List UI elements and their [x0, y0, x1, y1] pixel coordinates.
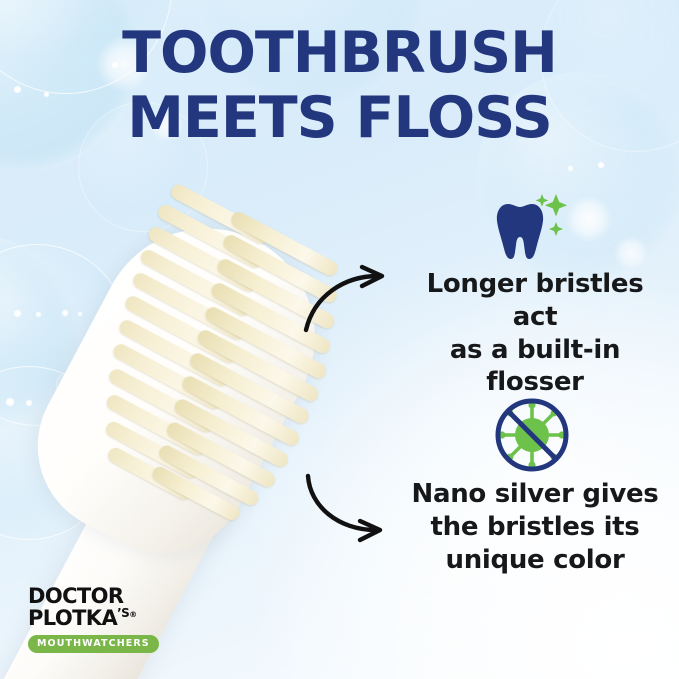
tooth-sparkle-svg — [490, 190, 576, 264]
logo-apostrophe-s: ’S — [117, 606, 129, 620]
registered-trademark-icon: ® — [129, 610, 136, 619]
no-germs-icon — [486, 396, 578, 479]
feature-2-line-2: the bristles its — [404, 511, 666, 544]
logo-line-2: PLOTKA’S® — [28, 607, 208, 629]
curved-arrow-down-right-icon — [300, 472, 396, 552]
feature-2-line-3: unique color — [404, 544, 666, 577]
brand-logo: DOCTOR PLOTKA’S® MOUTHWATCHERS — [28, 586, 208, 653]
product-infographic: TOOTHBRUSH MEETS FLOSS — [0, 0, 679, 679]
bubble-glow — [614, 236, 648, 270]
page-title: TOOTHBRUSH MEETS FLOSS — [0, 26, 679, 147]
headline-line-1: TOOTHBRUSH — [122, 20, 557, 86]
curved-arrow-up-right-icon — [300, 262, 396, 334]
logo-line-1: DOCTOR — [28, 586, 208, 607]
highlight-dot — [568, 166, 573, 171]
tooth-sparkle-icon — [490, 190, 576, 269]
logo-badge: MOUTHWATCHERS — [28, 635, 159, 653]
feature-1-line-2: as a built-in flosser — [404, 334, 666, 400]
feature-2-line-1: Nano silver gives — [404, 478, 666, 511]
feature-1-text: Longer bristles act as a built-in flosse… — [404, 268, 666, 399]
feature-1-line-1: Longer bristles act — [404, 268, 666, 334]
no-germs-svg — [486, 396, 578, 474]
logo-brand-name: PLOTKA — [28, 606, 117, 630]
feature-2-text: Nano silver gives the bristles its uniqu… — [404, 478, 666, 576]
highlight-dot — [598, 162, 604, 168]
headline-line-2: MEETS FLOSS — [0, 91, 679, 146]
